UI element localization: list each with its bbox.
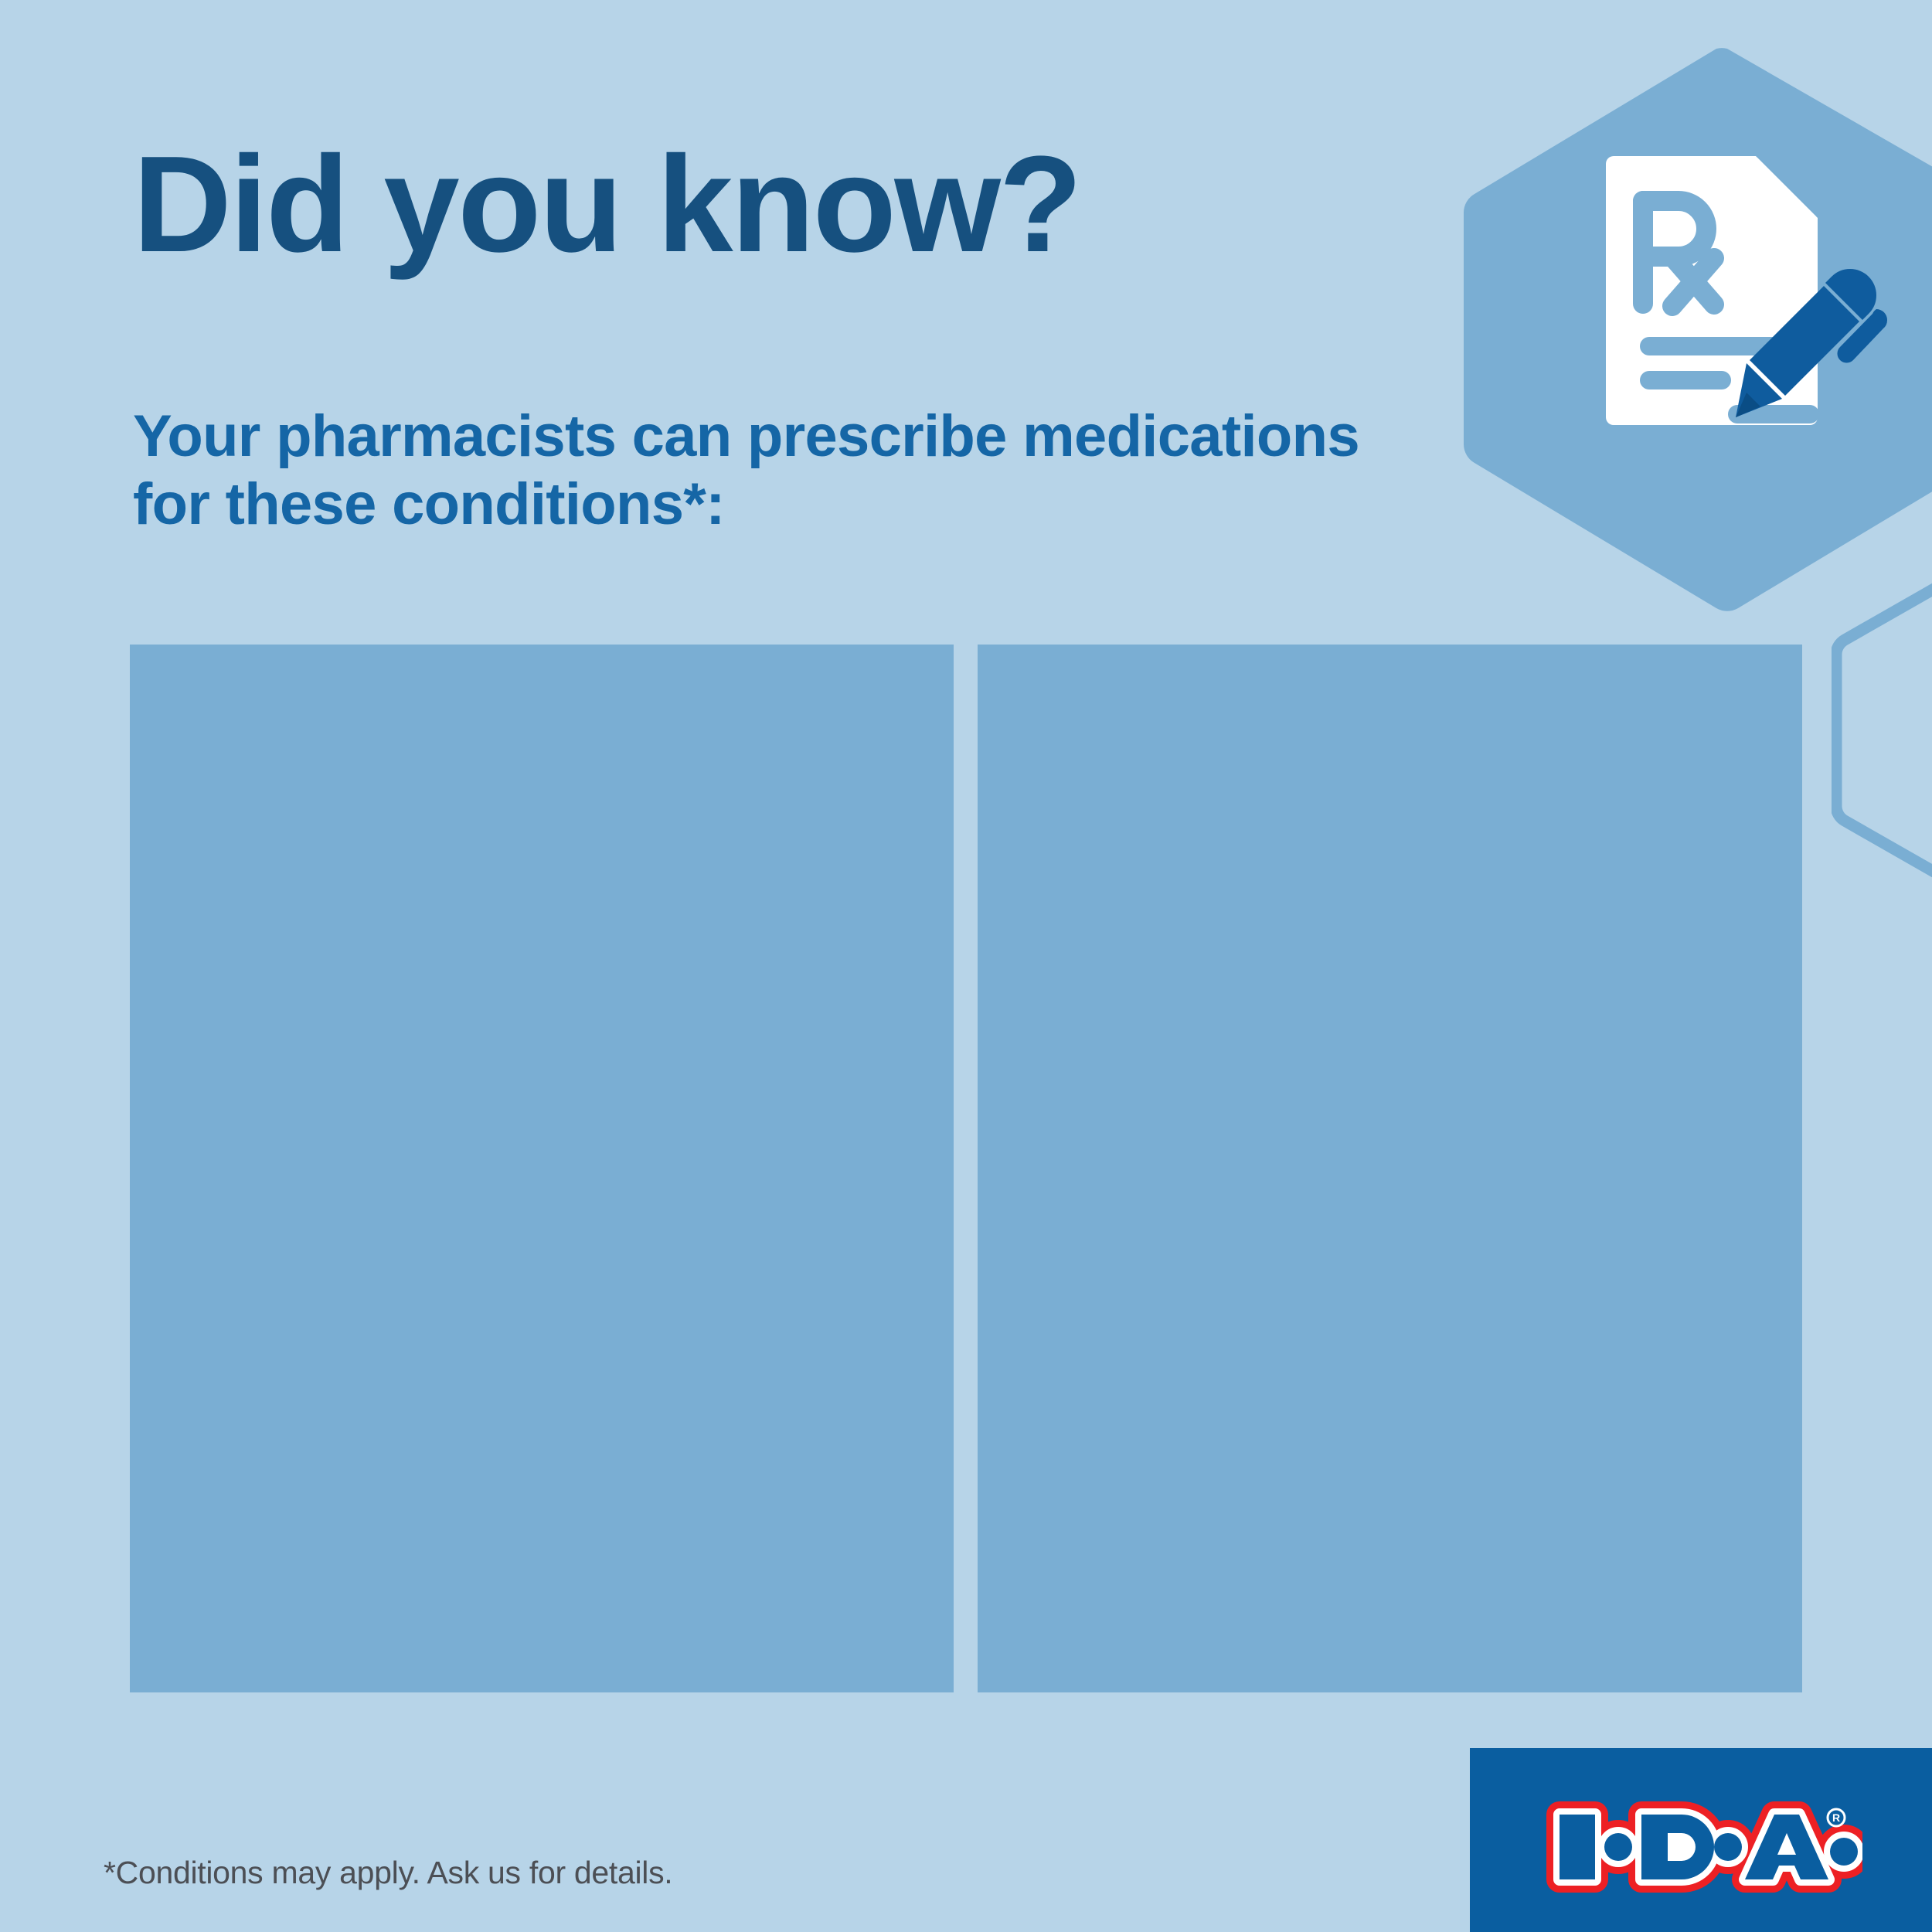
prescription-document-with-pen-icon bbox=[1592, 114, 1917, 439]
content-panel-right bbox=[978, 645, 1802, 1692]
ida-logo-mark: R bbox=[1538, 1799, 1862, 1895]
content-panel-left bbox=[130, 645, 954, 1692]
hexagon-outline bbox=[1832, 549, 1932, 912]
subheading: Your pharmacists can prescribe medicatio… bbox=[133, 403, 1447, 539]
svg-text:R: R bbox=[1832, 1811, 1840, 1824]
ida-logo-block: R bbox=[1470, 1748, 1932, 1932]
page-title: Did you know? bbox=[133, 136, 1080, 273]
poster-canvas: Did you know? Your pharmacists can presc… bbox=[0, 0, 1932, 1932]
footnote-disclaimer: *Conditions may apply. Ask us for detail… bbox=[104, 1855, 672, 1891]
